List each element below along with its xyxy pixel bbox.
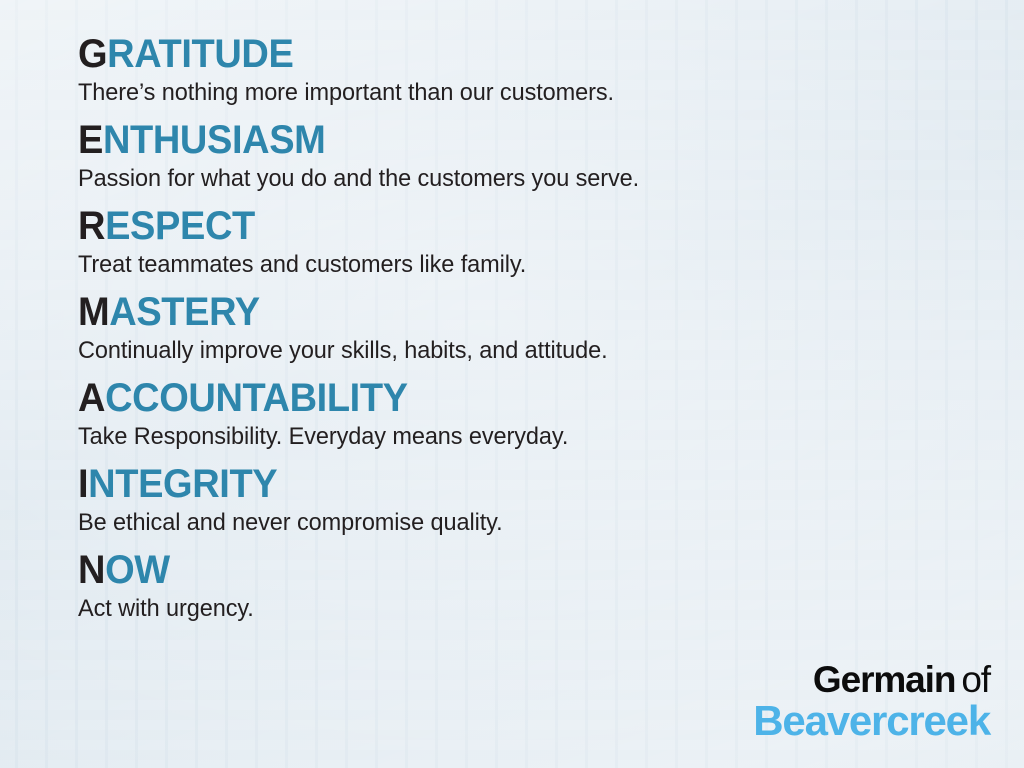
brand-logo-top-line: Germainof <box>753 661 990 698</box>
value-title: INTEGRITY <box>78 464 939 506</box>
value-title-rest: ESPECT <box>105 204 255 248</box>
value-initial-letter: E <box>78 118 103 162</box>
value-title-rest: NTHUSIASM <box>103 118 325 162</box>
brand-location-name: Beavercreek <box>753 700 990 742</box>
value-title: GRATITUDE <box>78 34 939 76</box>
value-description: Continually improve your skills, habits,… <box>78 337 948 364</box>
value-initial-letter: M <box>78 290 109 334</box>
value-initial-letter: I <box>78 462 88 506</box>
value-title-rest: CCOUNTABILITY <box>105 376 408 420</box>
value-row: ACCOUNTABILITY Take Responsibility. Ever… <box>78 378 984 450</box>
brand-logo: Germainof Beavercreek <box>753 661 990 742</box>
value-title: RESPECT <box>78 206 939 248</box>
value-title-rest: RATITUDE <box>107 32 293 76</box>
value-initial-letter: G <box>78 32 107 76</box>
value-description: Passion for what you do and the customer… <box>78 165 948 192</box>
value-row: NOW Act with urgency. <box>78 550 984 622</box>
value-title-rest: NTEGRITY <box>88 462 277 506</box>
value-row: MASTERY Continually improve your skills,… <box>78 292 984 364</box>
value-row: ENTHUSIASM Passion for what you do and t… <box>78 120 984 192</box>
brand-connector-word: of <box>961 659 990 700</box>
value-initial-letter: A <box>78 376 105 420</box>
value-description: Treat teammates and customers like famil… <box>78 251 948 278</box>
value-description: There’s nothing more important than our … <box>78 79 948 106</box>
value-row: RESPECT Treat teammates and customers li… <box>78 206 984 278</box>
value-title-rest: OW <box>105 548 170 592</box>
value-description: Be ethical and never compromise quality. <box>78 509 948 536</box>
value-initial-letter: R <box>78 204 105 248</box>
value-initial-letter: N <box>78 548 105 592</box>
value-title: MASTERY <box>78 292 939 334</box>
value-row: INTEGRITY Be ethical and never compromis… <box>78 464 984 536</box>
value-description: Take Responsibility. Everyday means ever… <box>78 423 948 450</box>
value-row: GRATITUDE There’s nothing more important… <box>78 34 984 106</box>
value-title: ACCOUNTABILITY <box>78 378 939 420</box>
value-title-rest: ASTERY <box>109 290 259 334</box>
core-values-list: GRATITUDE There’s nothing more important… <box>78 34 984 636</box>
value-description: Act with urgency. <box>78 595 948 622</box>
brand-dealer-name: Germain <box>813 659 955 700</box>
value-title: NOW <box>78 550 939 592</box>
values-poster: GRATITUDE There’s nothing more important… <box>0 0 1024 768</box>
value-title: ENTHUSIASM <box>78 120 939 162</box>
